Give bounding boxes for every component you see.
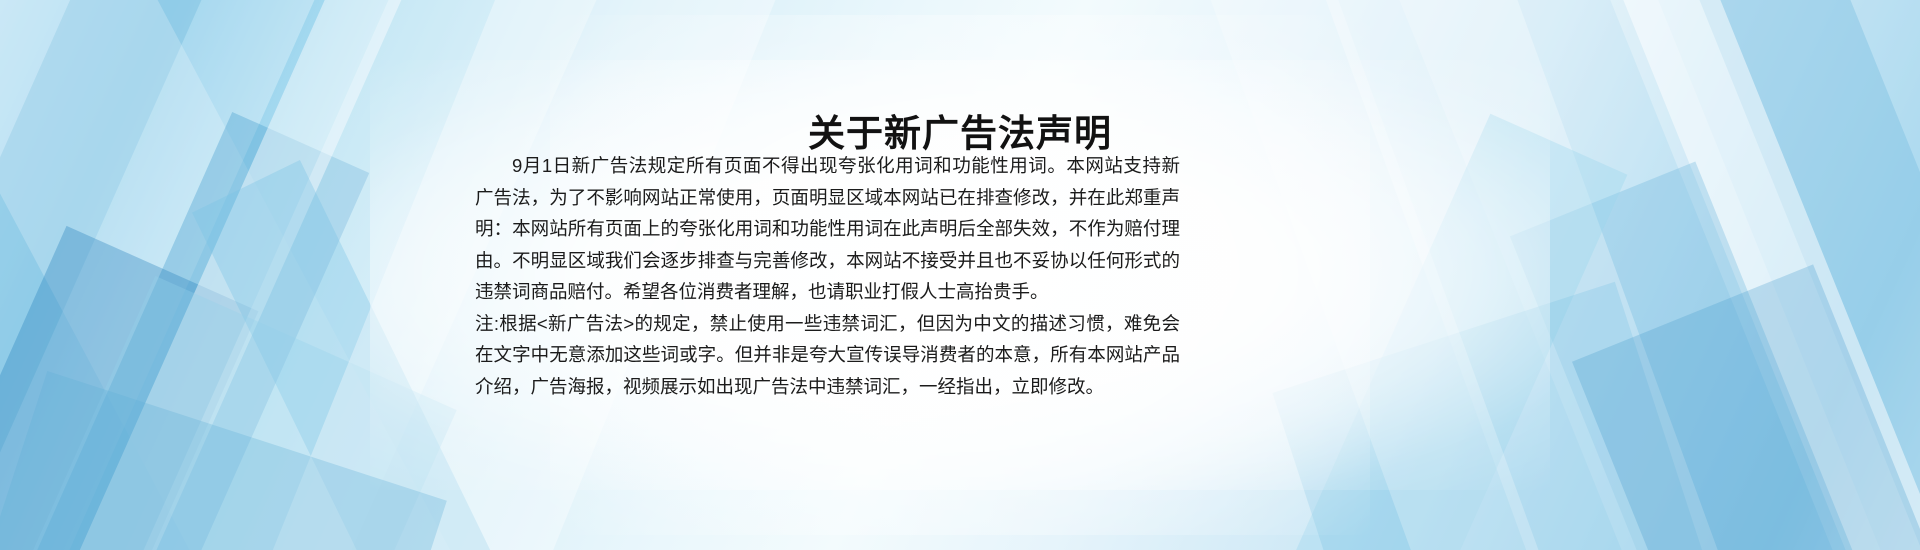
page-title: 关于新广告法声明 — [0, 113, 1920, 156]
statement-banner: 关于新广告法声明 9月1日新广告法规定所有页面不得出现夸张化用词和功能性用词。本… — [0, 0, 1920, 550]
statement-content: 关于新广告法声明 9月1日新广告法规定所有页面不得出现夸张化用词和功能性用词。本… — [0, 0, 1920, 550]
statement-body: 9月1日新广告法规定所有页面不得出现夸张化用词和功能性用词。本网站支持新广告法，… — [475, 150, 1180, 402]
statement-paragraph-1: 9月1日新广告法规定所有页面不得出现夸张化用词和功能性用词。本网站支持新广告法，… — [475, 150, 1180, 308]
statement-paragraph-2: 注:根据<新广告法>的规定，禁止使用一些违禁词汇，但因为中文的描述习惯，难免会在… — [475, 308, 1180, 403]
